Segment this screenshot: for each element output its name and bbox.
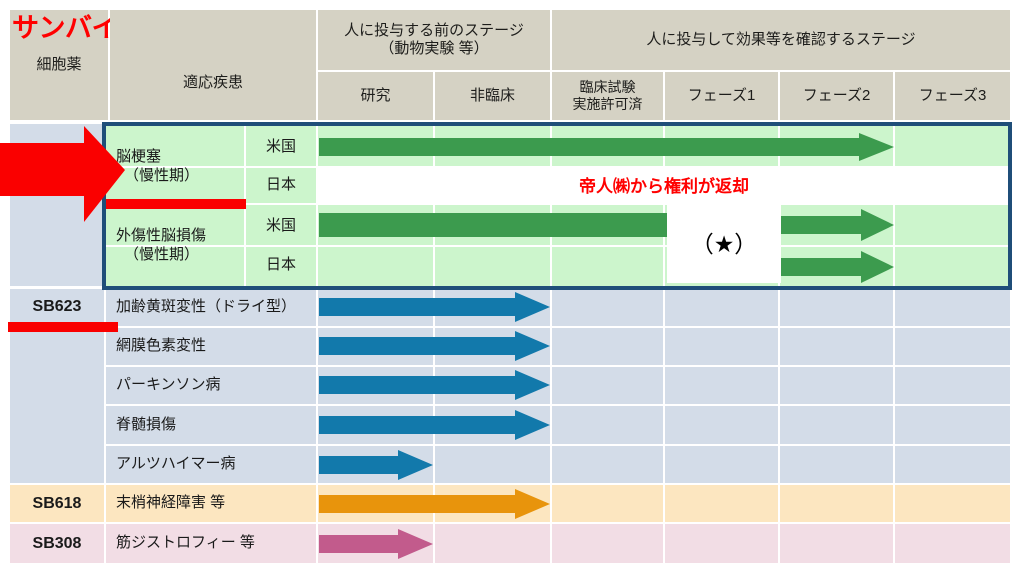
- indication-peripheral-nerve: 末梢神経障害 等: [106, 485, 316, 522]
- drug-code-text: SB618: [33, 494, 82, 514]
- header-stage-phase2-label: フェーズ2: [803, 87, 871, 105]
- header-stage-phase1: フェーズ1: [665, 72, 780, 120]
- header-label-drug: 細胞薬: [36, 56, 81, 74]
- arrow-green-stroke-us: [319, 133, 894, 161]
- region-text: 米国: [266, 217, 296, 236]
- header-stage-phase3: フェーズ3: [895, 72, 1010, 120]
- highlight-indication-tbi: 外傷性脳損傷 （慢性期）: [106, 207, 244, 284]
- highlight-indication-tbi-line2: （慢性期）: [116, 246, 199, 265]
- note-rights-returned: 帝人㈱から権利が返却: [318, 168, 1010, 205]
- indication-alzheimer: アルツハイマー病: [106, 446, 316, 483]
- indication-text: 脊髄損傷: [116, 416, 176, 435]
- region-text: 米国: [266, 138, 296, 157]
- star-marker-text: （★）: [691, 230, 758, 259]
- note-rights-returned-text: 帝人㈱から権利が返却: [579, 176, 749, 197]
- header-spacer-indication-top: [110, 10, 318, 45]
- highlight-indication-stroke: 脳梗塞 （慢性期）: [106, 128, 244, 205]
- indication-text: 加齢黄斑変性（ドライ型）: [116, 298, 296, 317]
- header-stage-nonclinical: 非臨床: [435, 72, 552, 120]
- indication-text: 筋ジストロフィー 等: [116, 534, 255, 553]
- red-underline-highlight: [106, 199, 246, 209]
- arrow-blue-amd: [319, 292, 550, 322]
- header-stage-ind: 臨床試験 実施許可済: [552, 72, 665, 120]
- header-group-preclinical-line2: （動物実験 等）: [379, 40, 488, 58]
- indication-text: アルツハイマー病: [116, 455, 236, 474]
- header-group-preclinical-line1: 人に投与する前のステージ: [344, 22, 524, 40]
- header-label-indication: 適応疾患: [183, 74, 243, 92]
- star-marker: （★）: [667, 205, 781, 283]
- indication-text: 網膜色素変性: [116, 337, 206, 356]
- arrow-green-tbi-us-left: [319, 213, 667, 237]
- drug-code-text: SB623: [33, 297, 82, 317]
- arrow-blue-parkinson: [319, 370, 550, 400]
- region-label-tbi-us: 米国: [246, 207, 316, 245]
- header-stage-phase2: フェーズ2: [780, 72, 895, 120]
- arrow-green-tbi-jp: [781, 251, 894, 283]
- header-stage-ind-line1: 臨床試験: [580, 79, 636, 96]
- region-label-stroke-us: 米国: [246, 128, 316, 166]
- header-stage-research-label: 研究: [360, 87, 390, 105]
- indication-spinal-cord-injury: 脊髄損傷: [106, 406, 316, 444]
- red-underline-sb623: [8, 322, 118, 332]
- indication-text: 末梢神経障害 等: [116, 494, 225, 513]
- arrow-blue-spinal-cord-injury: [319, 410, 550, 440]
- header-stage-ind-line2: 実施許可済: [573, 96, 643, 113]
- header-group-preclinical: 人に投与する前のステージ （動物実験 等）: [318, 10, 552, 72]
- header-stage-research: 研究: [318, 72, 435, 120]
- arrow-blue-alzheimer: [319, 450, 433, 480]
- drug-code-text: SB308: [33, 534, 82, 554]
- header-group-clinical: 人に投与して効果等を確認するステージ: [552, 10, 1010, 72]
- region-label-stroke-jp: 日本: [246, 168, 316, 203]
- arrow-blue-rp: [319, 331, 550, 361]
- header-stage-phase1-label: フェーズ1: [688, 87, 756, 105]
- header-stage-nonclinical-label: 非臨床: [470, 87, 515, 105]
- header-group-clinical-label: 人に投与して効果等を確認するステージ: [646, 31, 915, 49]
- indication-muscular-dystrophy: 筋ジストロフィー 等: [106, 524, 316, 563]
- indication-parkinson: パーキンソン病: [106, 367, 316, 404]
- indication-amd: 加齢黄斑変性（ドライ型）: [106, 288, 316, 326]
- header-stage-phase3-label: フェーズ3: [919, 87, 987, 105]
- header-cell-indication: 適応疾患: [110, 45, 318, 120]
- drug-code-sb308: SB308: [10, 524, 104, 563]
- arrow-pink-muscular-dystrophy: [319, 529, 433, 559]
- indication-rp: 網膜色素変性: [106, 328, 316, 365]
- drug-code-sb618: SB618: [10, 485, 104, 523]
- indication-text: パーキンソン病: [116, 376, 221, 395]
- region-text: 日本: [266, 176, 296, 195]
- arrow-orange-peripheral-nerve: [319, 489, 550, 519]
- region-label-tbi-jp: 日本: [246, 247, 316, 283]
- highlight-indication-stroke-line2: （慢性期）: [116, 167, 199, 186]
- arrow-green-tbi-us-right: [781, 209, 894, 241]
- region-text: 日本: [266, 256, 296, 275]
- drug-code-sb623: SB623: [10, 288, 104, 326]
- highlight-indication-tbi-line1: 外傷性脳損傷: [116, 227, 206, 246]
